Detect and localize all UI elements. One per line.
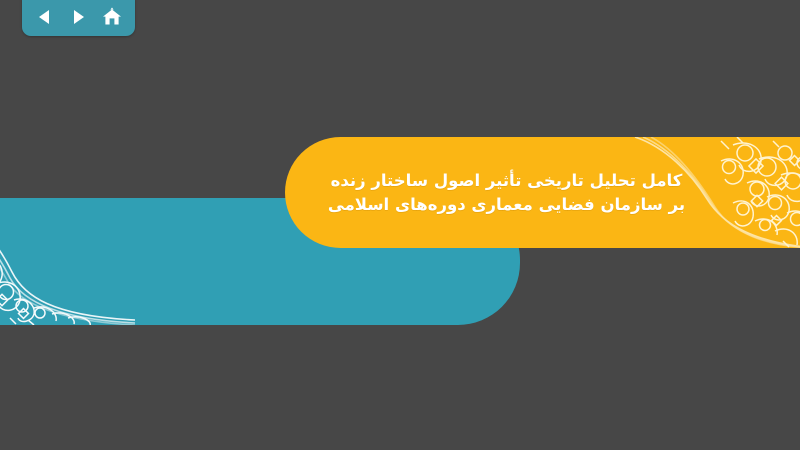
slide-title-line-1: کامل تحلیل تاریخی تأثیر اصول ساختار زنده: [313, 169, 700, 192]
home-icon: [102, 7, 122, 27]
slide-title-line-2: بر سازمان فضایی معماری دوره‌های اسلامی: [313, 193, 700, 216]
previous-slide-button[interactable]: [32, 4, 58, 30]
slide-title: کامل تحلیل تاریخی تأثیر اصول ساختار زنده…: [285, 169, 800, 216]
slide-navigation-bar: [22, 0, 135, 36]
next-slide-button[interactable]: [65, 4, 91, 30]
arabesque-ornament-icon: [0, 200, 135, 325]
triangle-right-icon: [69, 8, 87, 26]
home-button[interactable]: [99, 4, 125, 30]
slide-canvas: کامل تحلیل تاریخی تأثیر اصول ساختار زنده…: [0, 0, 800, 450]
title-banner: کامل تحلیل تاریخی تأثیر اصول ساختار زنده…: [285, 137, 800, 248]
triangle-left-icon: [36, 8, 54, 26]
